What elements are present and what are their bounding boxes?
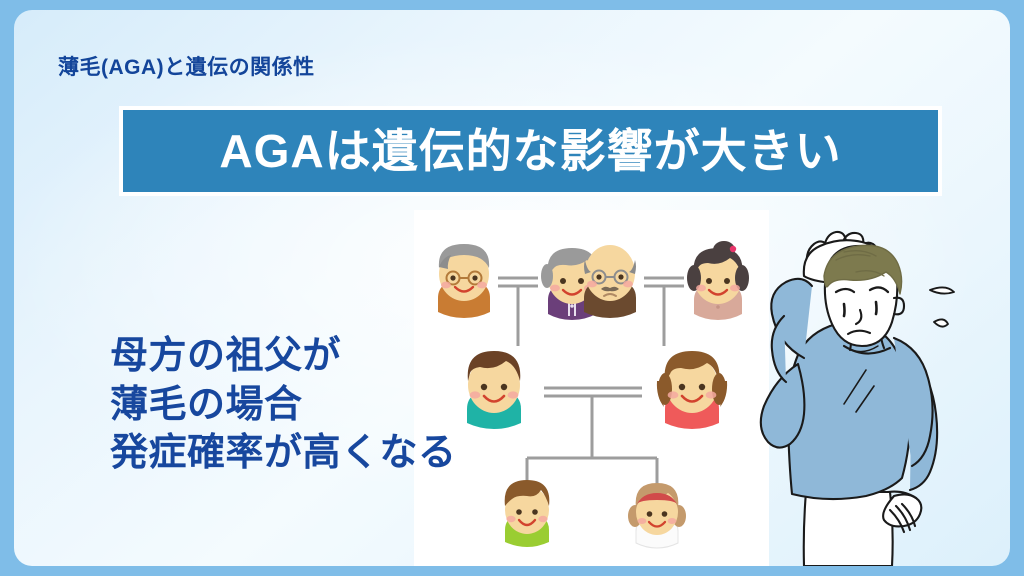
headline-banner: AGAは遺伝的な影響が大きい xyxy=(119,106,942,196)
person-paternal-grandfather xyxy=(584,245,636,318)
lead-copy: 母方の祖父が 薄毛の場合 発症確率が高くなる xyxy=(110,332,457,478)
worried-man-illustration xyxy=(744,206,1004,566)
person-maternal-grandfather xyxy=(438,244,490,318)
lead-line-2: 薄毛の場合 xyxy=(110,381,457,430)
lead-line-1: 母方の祖父が xyxy=(110,332,457,381)
slide-card: 薄毛(AGA)と遺伝の関係性 AGAは遺伝的な影響が大きい 母方の祖父が 薄毛の… xyxy=(14,10,1010,566)
page-title: 薄毛(AGA)と遺伝の関係性 xyxy=(58,51,315,81)
lead-line-3: 発症確率が高くなる xyxy=(110,429,457,478)
family-tree-panel xyxy=(414,210,769,566)
slide-root: 薄毛(AGA)と遺伝の関係性 AGAは遺伝的な影響が大きい 母方の祖父が 薄毛の… xyxy=(0,0,1024,576)
sweat-drop-icon xyxy=(930,287,954,293)
person-paternal-grandmother xyxy=(687,241,749,320)
family-tree-diagram xyxy=(414,210,769,566)
person-daughter xyxy=(628,483,686,548)
sweat-drop-icon xyxy=(934,319,948,326)
person-son xyxy=(505,480,550,547)
person-father xyxy=(467,351,521,429)
headline-banner-text: AGAは遺伝的な影響が大きい xyxy=(219,128,841,174)
worried-man-figure xyxy=(744,206,1004,566)
person-mother xyxy=(657,351,727,429)
